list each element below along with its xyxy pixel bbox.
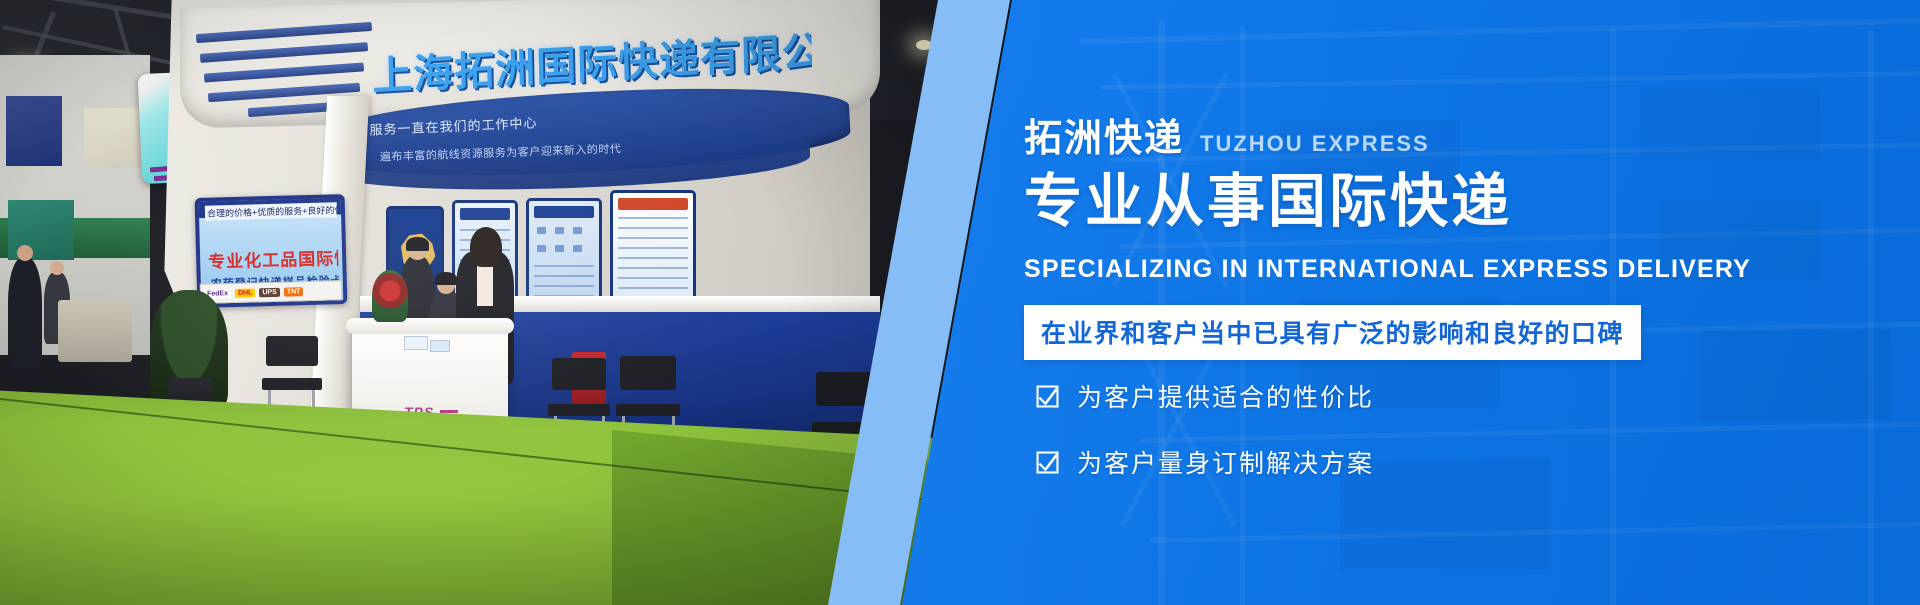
brand-name-english: TUZHOU EXPRESS	[1200, 133, 1430, 158]
person-shirt	[477, 266, 493, 306]
poster-header-bar	[618, 198, 688, 210]
poster-text-line	[618, 257, 688, 259]
brochure-box	[404, 336, 428, 350]
subtitle-english: SPECIALIZING IN INTERNATIONAL EXPRESS DE…	[1024, 255, 1751, 284]
poster-header-bar	[534, 206, 594, 218]
poster-text-line	[618, 247, 688, 249]
poster-text-line	[618, 237, 688, 239]
benefit-bullet-text: 为客户提供适合的性价比	[1077, 378, 1374, 414]
tagline-box: 在业界和客户当中已具有广泛的影响和良好的口碑	[1024, 305, 1641, 360]
poster-thumbnail	[555, 227, 564, 234]
benefit-bullet-list: 为客户提供适合的性价比 为客户量身订制解决方案	[1036, 378, 1374, 510]
benefit-bullet-text: 为客户量身订制解决方案	[1077, 444, 1374, 480]
carrier-logo-dhl: DHL	[235, 288, 256, 298]
benefit-bullet-item: 为客户提供适合的性价比	[1036, 378, 1374, 414]
chair-seat	[548, 404, 610, 416]
tagline-text: 在业界和客户当中已具有广泛的影响和良好的口碑	[1041, 321, 1624, 348]
chair-seat	[616, 404, 680, 416]
brand-name-chinese: 拓洲快递	[1024, 120, 1184, 158]
chair-back	[620, 356, 676, 390]
checkbox-checked-icon	[1036, 451, 1059, 474]
chair-back	[552, 358, 606, 390]
poster-text-line	[534, 285, 594, 287]
visitor-person	[8, 258, 42, 368]
booth-fascia-text-lower: 遍布丰富的航线资源服务为客户迎来新入的时代	[380, 135, 780, 165]
chair-back	[816, 372, 872, 406]
person-hair	[470, 227, 502, 267]
poster-top-line: 合理的价格+优质的服务+良好的信誉	[205, 202, 337, 220]
poster-text-line	[534, 265, 594, 267]
checkbox-checked-icon	[1036, 385, 1059, 408]
far-booth-panel	[84, 108, 142, 168]
person-head	[50, 261, 64, 275]
carrier-logo-tnt: TNT	[284, 287, 304, 297]
benefit-bullet-item: 为客户量身订制解决方案	[1036, 444, 1374, 480]
banner-copy-block: 拓洲快递 TUZHOU EXPRESS 专业从事国际快递 SPECIALIZIN…	[1024, 0, 1884, 605]
carrier-logo-ups: UPS	[259, 287, 280, 297]
hero-banner: TPS 上海拓洲国际快递有限公司 服务一直在我们的工作中心 遍布丰富的航线资源服…	[0, 0, 1920, 605]
brochure-box	[430, 340, 450, 352]
poster-text-line	[618, 217, 688, 219]
poster-thumbnail	[573, 245, 582, 252]
carrier-logo-strip: FedEx DHL UPS TNT	[200, 280, 342, 304]
person-hair	[406, 237, 429, 251]
poster-thumbnail	[537, 245, 546, 252]
headline-chinese: 专业从事国际快递	[1024, 172, 1512, 233]
poster-header-bar	[460, 208, 510, 220]
storage-crate	[58, 300, 132, 362]
poster-text-line	[618, 287, 688, 289]
brand-row: 拓洲快递 TUZHOU EXPRESS	[1024, 120, 1430, 158]
poster-text-line	[534, 275, 594, 277]
reception-counter-top	[346, 318, 514, 334]
person-hair	[435, 272, 457, 285]
flower-bouquet	[372, 270, 408, 322]
poster-thumbnail	[537, 227, 546, 234]
poster-text-line	[618, 277, 688, 279]
poster-text-line	[618, 227, 688, 229]
poster-thumbnail	[573, 227, 582, 234]
chair-back	[266, 336, 318, 366]
person-head	[17, 245, 33, 261]
far-booth-panel	[6, 96, 62, 166]
chair-seat	[262, 378, 322, 390]
poster-text-line	[618, 267, 688, 269]
poster-headline: 专业化工品国际快递	[208, 244, 339, 272]
counter-logo-stripe	[440, 410, 458, 413]
poster-thumbnail	[555, 245, 564, 252]
